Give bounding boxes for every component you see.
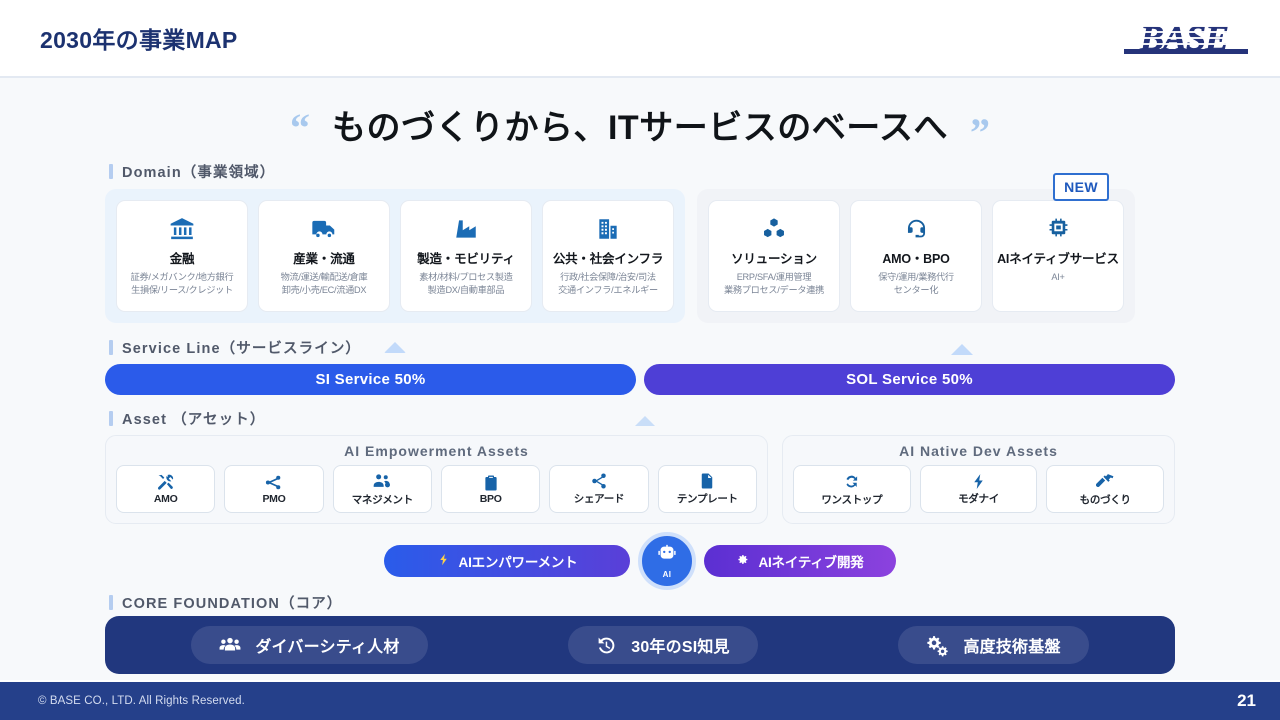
bank-icon — [169, 212, 195, 246]
asset-chip-onestop[interactable]: ワンストップ — [793, 465, 911, 513]
asset-chip-label: PMO — [262, 493, 285, 505]
domain-card-public[interactable]: 公共・社会インフラ 行政/社会保障/治安/司法 交通インフラ/エネルギー — [542, 200, 674, 312]
asset-chip-label: BPO — [480, 493, 502, 505]
core-label-text: CORE FOUNDATION（コア） — [122, 592, 342, 613]
quote-open-icon: “ — [290, 116, 310, 140]
section-bar — [109, 411, 113, 426]
domain-card-ai-native[interactable]: AIネイティブサービス AI+ — [992, 200, 1124, 312]
page-number: 21 — [1237, 691, 1256, 711]
service-line-section: Service Line（サービスライン） SI Service 50% SOL… — [105, 337, 1175, 395]
robot-icon — [656, 543, 678, 570]
asset-chip-label: テンプレート — [677, 491, 738, 506]
sol-service-bar[interactable]: SOL Service 50% — [644, 364, 1175, 395]
domain-card-sub1: 行政/社会保障/治安/司法 — [560, 272, 656, 282]
domain-card-sub1: 物流/運送/輸配送/倉庫 — [281, 272, 368, 282]
domain-card-title: AMO・BPO — [882, 248, 949, 267]
asset-chip-label: ものづくり — [1080, 492, 1131, 507]
asset-chip-modernize[interactable]: モダナイ — [920, 465, 1038, 513]
asset-section-label: Asset （アセット） — [109, 408, 265, 429]
domain-card-title: AIネイティブサービス — [997, 248, 1119, 267]
copyright-text: © BASE CO., LTD. All Rights Reserved. — [38, 695, 245, 707]
core-chip-tech-base[interactable]: 高度技術基盤 — [898, 626, 1088, 664]
core-foundation-box: ダイバーシティ人材 30年のSI知見 高度技術基盤 — [105, 616, 1175, 674]
domain-card-manufacturing[interactable]: 製造・モビリティ 素材/材料/プロセス製造 製造DX/自動車部品 — [400, 200, 532, 312]
clipboard-icon — [482, 474, 500, 492]
domain-card-sub: 素材/材料/プロセス製造 製造DX/自動車部品 — [419, 271, 512, 298]
asset-chip-template[interactable]: テンプレート — [658, 465, 757, 513]
domain-card-sub2: 業務プロセス/データ連携 — [724, 285, 824, 295]
sitemap-icon — [264, 473, 283, 492]
domain-card-title: 製造・モビリティ — [417, 248, 515, 267]
domain-card-sub2: 生損保/リース/クレジット — [131, 285, 233, 295]
quote-close-icon: ” — [970, 121, 990, 145]
users-cog-icon — [372, 471, 392, 491]
domain-card-sub: 物流/運送/輸配送/倉庫 卸売/小売/EC/流通DX — [281, 271, 368, 298]
people-icon — [219, 634, 241, 656]
asset-chip-label: マネジメント — [352, 492, 413, 507]
ai-empowerment-label: AIエンパワーメント — [459, 551, 578, 571]
domain-card-sub1: 証券/メガバンク/地方銀行 — [131, 272, 234, 282]
asset-chip-amo[interactable]: AMO — [116, 465, 215, 513]
domain-card-sub1: 保守/運用/業務代行 — [878, 272, 954, 282]
asset-label-row: Asset （アセット） — [105, 408, 1175, 433]
domain-group-si: 金融 証券/メガバンク/地方銀行 生損保/リース/クレジット 産業・流通 物流/… — [105, 189, 685, 323]
page-title: 2030年の事業MAP — [40, 21, 238, 55]
chip-icon — [1046, 212, 1071, 246]
tools-icon — [156, 473, 175, 492]
domain-card-sub2: 卸売/小売/EC/流通DX — [282, 285, 366, 295]
core-foundation-section: CORE FOUNDATION（コア） ダイバーシティ人材 30年のSI知見 — [105, 592, 1175, 674]
domain-card-title: ソリューション — [731, 248, 817, 267]
ai-native-pill[interactable]: AIネイティブ開発 — [704, 545, 896, 577]
domain-card-finance[interactable]: 金融 証券/メガバンク/地方銀行 生損保/リース/クレジット — [116, 200, 248, 312]
domain-group-sol: NEW ソリューション ERP/SFA/運用管理 業務プロセス/データ連携 — [697, 189, 1135, 323]
logo-underline — [1124, 49, 1248, 54]
sol-up-arrow-icon — [951, 344, 973, 355]
new-badge: NEW — [1053, 173, 1109, 201]
headline-text: ものづくりから、ITサービスのベースへ — [332, 100, 948, 149]
asset-row: AI Empowerment Assets AMO — [105, 435, 1175, 524]
asset-chip-label: ワンストップ — [821, 492, 882, 507]
asset-chip-management[interactable]: マネジメント — [333, 465, 432, 513]
asset-chip-list: ワンストップ モダナイ ものづくり — [793, 465, 1164, 513]
cubes-icon — [761, 212, 787, 246]
gear-icon — [736, 553, 749, 569]
slide-body: “ ものづくりから、ITサービスのベースへ ” Domain（事業領域） 金融 … — [0, 78, 1280, 680]
slide: 2030年の事業MAP BASE “ ものづくりから、ITサービスのベースへ ”… — [0, 0, 1280, 720]
asset-label-text: Asset （アセット） — [122, 408, 265, 429]
core-chip-label: 高度技術基盤 — [963, 633, 1060, 657]
domain-card-sub2: センター化 — [894, 285, 938, 295]
share-icon — [590, 472, 608, 490]
domain-card-solution[interactable]: ソリューション ERP/SFA/運用管理 業務プロセス/データ連携 — [708, 200, 840, 312]
service-line-label-text: Service Line（サービスライン） — [122, 337, 361, 358]
asset-chip-label: モダナイ — [958, 491, 999, 506]
section-bar — [109, 595, 113, 610]
domain-card-sub1: AI+ — [1051, 272, 1064, 282]
ai-empowerment-pill[interactable]: AIエンパワーメント — [384, 545, 630, 577]
si-up-arrow-icon — [384, 342, 406, 353]
truck-icon — [310, 212, 338, 246]
base-logo: BASE — [1118, 16, 1250, 60]
domain-row: 金融 証券/メガバンク/地方銀行 生損保/リース/クレジット 産業・流通 物流/… — [105, 189, 1175, 323]
asset-chip-label: シェアード — [574, 491, 624, 506]
core-chip-label: ダイバーシティ人材 — [255, 633, 399, 657]
domain-card-industry[interactable]: 産業・流通 物流/運送/輸配送/倉庫 卸売/小売/EC/流通DX — [258, 200, 390, 312]
domain-card-sub: 行政/社会保障/治安/司法 交通インフラ/エネルギー — [558, 271, 658, 298]
bolt-icon — [970, 473, 987, 490]
gears-icon — [926, 634, 949, 657]
domain-card-sub2: 交通インフラ/エネルギー — [558, 285, 658, 295]
service-line-bars: SI Service 50% SOL Service 50% — [105, 364, 1175, 395]
core-chip-label: 30年のSI知見 — [631, 633, 730, 657]
slide-footer: © BASE CO., LTD. All Rights Reserved. 21 — [0, 680, 1280, 720]
domain-card-sub: 証券/メガバンク/地方銀行 生損保/リース/クレジット — [131, 271, 234, 298]
si-service-bar[interactable]: SI Service 50% — [105, 364, 636, 395]
core-chip-diversity[interactable]: ダイバーシティ人材 — [191, 626, 427, 664]
headline-row: “ ものづくりから、ITサービスのベースへ ” — [105, 100, 1175, 149]
sync-icon — [842, 472, 861, 491]
bolt-icon — [437, 553, 450, 569]
asset-group-title: AI Native Dev Assets — [793, 443, 1164, 459]
factory-icon — [453, 212, 479, 246]
ai-native-label: AIネイティブ開発 — [758, 551, 863, 571]
building-icon — [595, 212, 621, 246]
domain-card-amo-bpo[interactable]: AMO・BPO 保守/運用/業務代行 センター化 — [850, 200, 982, 312]
domain-card-title: 産業・流通 — [293, 248, 355, 267]
service-line-label-row: Service Line（サービスライン） — [105, 337, 1175, 362]
domain-card-title: 公共・社会インフラ — [553, 248, 663, 267]
domain-card-title: 金融 — [170, 248, 195, 267]
asset-chip-bpo[interactable]: BPO — [441, 465, 540, 513]
document-icon — [698, 472, 716, 490]
asset-group-native: AI Native Dev Assets ワンストップ — [782, 435, 1175, 524]
section-bar — [109, 164, 113, 179]
domain-card-sub1: 素材/材料/プロセス製造 — [419, 272, 512, 282]
domain-card-sub: AI+ — [1051, 271, 1064, 284]
domain-card-sub: 保守/運用/業務代行 センター化 — [878, 271, 954, 298]
hammer-icon — [1096, 472, 1115, 491]
asset-chip-label: AMO — [154, 493, 178, 505]
domain-card-sub1: ERP/SFA/運用管理 — [737, 272, 812, 282]
history-icon — [596, 635, 617, 656]
core-chip-si-knowledge[interactable]: 30年のSI知見 — [568, 626, 758, 664]
slide-header: 2030年の事業MAP BASE — [0, 0, 1280, 78]
domain-section-label: Domain（事業領域） — [109, 161, 1175, 182]
asset-group-empowerment: AI Empowerment Assets AMO — [105, 435, 768, 524]
ai-band-row: AIエンパワーメント AI AIネイティブ開発 — [105, 532, 1175, 590]
asset-section: Asset （アセット） AI Empowerment Assets AMO — [105, 408, 1175, 524]
core-foundation-section-label: CORE FOUNDATION（コア） — [109, 592, 1175, 613]
asset-chip-list: AMO PMO マネジメント — [116, 465, 757, 513]
asset-chip-pmo[interactable]: PMO — [224, 465, 323, 513]
domain-label-text: Domain（事業領域） — [122, 161, 275, 182]
domain-card-sub2: 製造DX/自動車部品 — [428, 285, 505, 295]
ai-core-label: AI — [663, 570, 672, 579]
asset-up-arrow-icon — [635, 416, 655, 426]
asset-chip-monozukuri[interactable]: ものづくり — [1046, 465, 1164, 513]
ai-core-node[interactable]: AI — [638, 532, 696, 590]
asset-chip-shared[interactable]: シェアード — [549, 465, 648, 513]
headset-icon — [904, 212, 929, 246]
asset-group-title: AI Empowerment Assets — [116, 443, 757, 459]
domain-card-sub: ERP/SFA/運用管理 業務プロセス/データ連携 — [724, 271, 824, 298]
service-line-section-label: Service Line（サービスライン） — [109, 337, 406, 358]
section-bar — [109, 340, 113, 355]
